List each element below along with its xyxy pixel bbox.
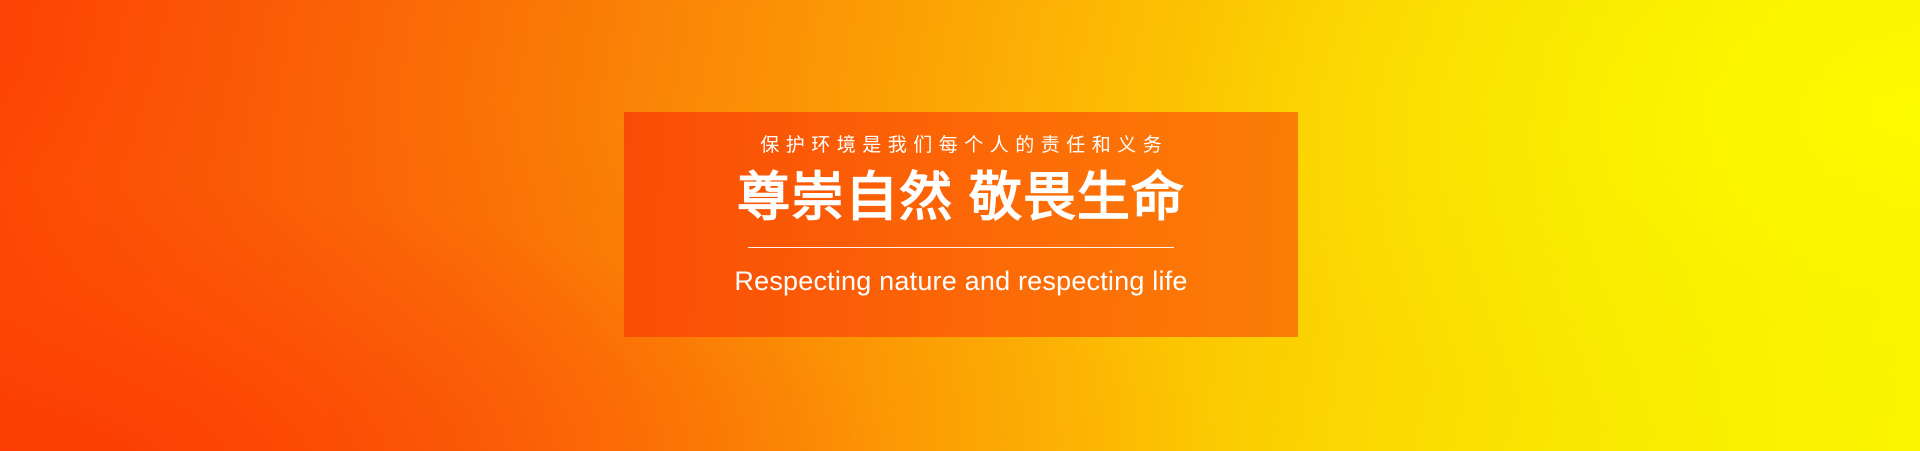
promo-banner: 保护环境是我们每个人的责任和义务 尊崇自然 敬畏生命 Respecting na… (0, 0, 1920, 451)
message-panel: 保护环境是我们每个人的责任和义务 尊崇自然 敬畏生命 Respecting na… (624, 112, 1298, 337)
subtitle-text-english: Respecting nature and respecting life (734, 268, 1187, 295)
horizontal-divider (748, 247, 1174, 248)
headline-text-chinese: 尊崇自然 敬畏生命 (737, 171, 1185, 224)
eyebrow-text-chinese: 保护环境是我们每个人的责任和义务 (754, 136, 1169, 155)
